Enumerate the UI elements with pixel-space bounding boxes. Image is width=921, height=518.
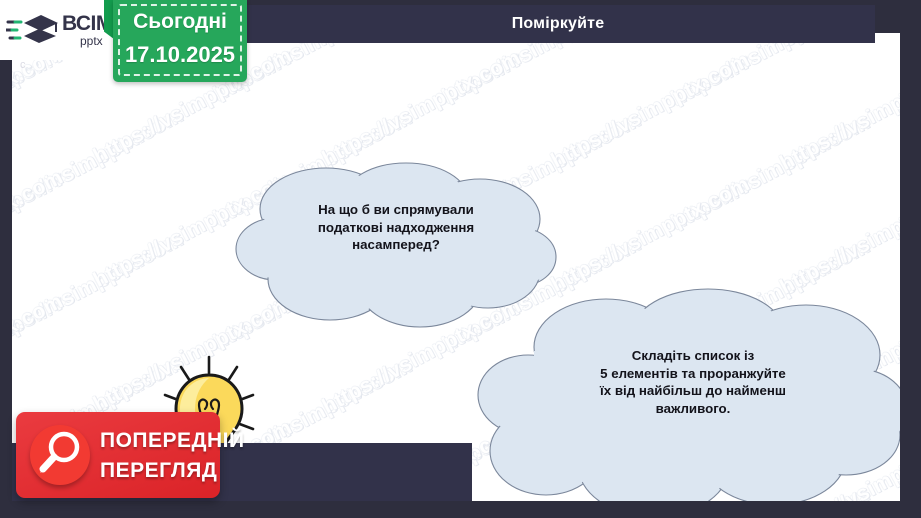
- preview-badge[interactable]: ПОПЕРЕДНІЙ ПЕРЕГЛЯД: [16, 412, 220, 498]
- frame-right: [900, 0, 921, 518]
- cloud1-text-line-1: На що б ви спрямували: [268, 201, 524, 219]
- page-title: Поміркуйте: [512, 15, 605, 33]
- thought-cloud-2-text: Складіть список із5 елементів та проранж…: [536, 347, 850, 417]
- graduation-cap-icon: [6, 10, 60, 50]
- preview-badge-line-2: ПЕРЕГЛЯД: [100, 456, 245, 486]
- magnifier-icon: [30, 425, 90, 485]
- cloud2-text-line-1: Складіть список із: [536, 347, 850, 365]
- cloud1-text-line-2: податкові надходження: [268, 219, 524, 237]
- cloud2-text-line-3: їх від найбільш до найменш: [536, 382, 850, 400]
- preview-badge-line-1: ПОПЕРЕДНІЙ: [100, 426, 245, 456]
- cloud2-text-line-2: 5 елементів та проранжуйте: [536, 365, 850, 383]
- slide-title-bar: Поміркуйте: [241, 5, 875, 43]
- date-badge-body: Сьогодні 17.10.2025: [113, 0, 247, 82]
- thought-cloud-1-text: На що б ви спрямувалиподаткові надходжен…: [268, 201, 524, 254]
- frame-bottom: [0, 501, 921, 518]
- date-badge-label: Сьогодні: [113, 10, 247, 34]
- date-badge-date: 17.10.2025: [113, 42, 247, 68]
- thought-cloud-2: Складіть список із5 елементів та проранж…: [476, 285, 900, 501]
- presentation-viewer: https://vsimpptx.com https://vsimpptx.co…: [0, 0, 921, 518]
- cloud1-text-line-3: насамперед?: [268, 236, 524, 254]
- cloud2-text-line-4: важливого.: [536, 400, 850, 418]
- date-badge: Сьогодні 17.10.2025: [104, 0, 247, 82]
- footer-line-2: с: [20, 58, 26, 74]
- preview-badge-text: ПОПЕРЕДНІЙ ПЕРЕГЛЯД: [100, 426, 245, 487]
- frame-left: [0, 0, 12, 518]
